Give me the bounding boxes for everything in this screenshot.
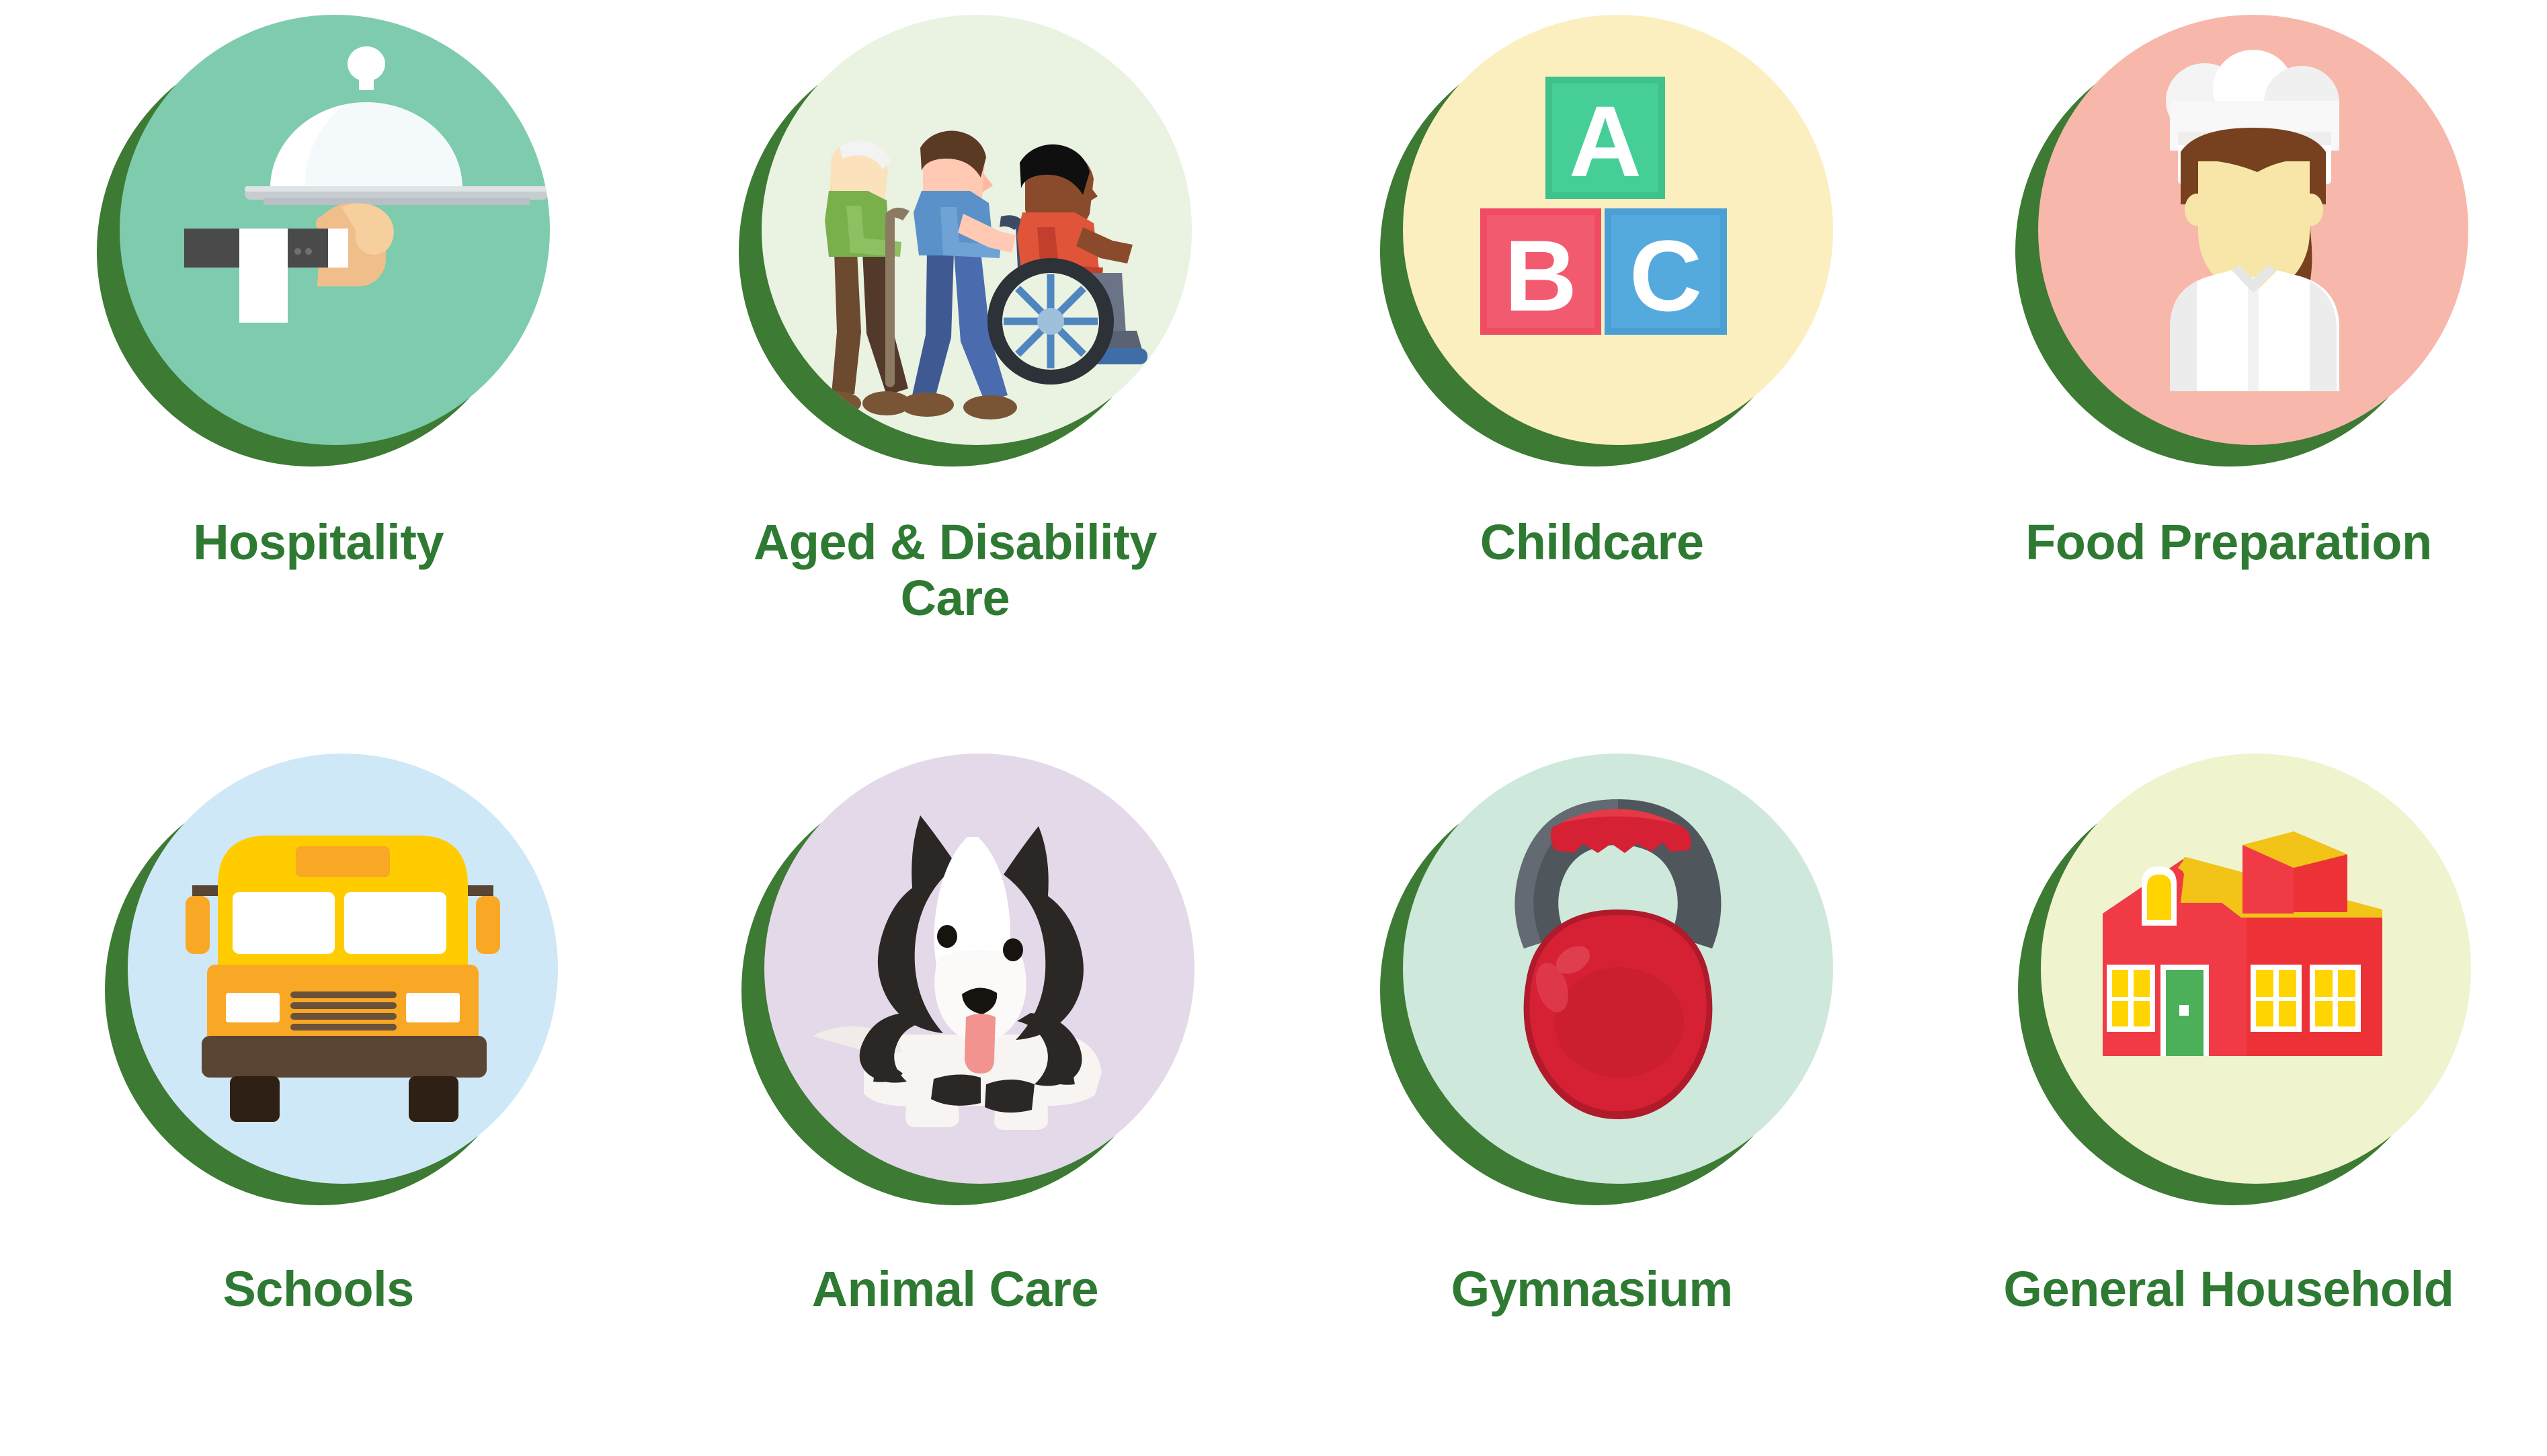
disc-food-preparation bbox=[2038, 15, 2468, 445]
badge-animal-care bbox=[723, 739, 1193, 1223]
carer-with-elderly-and-wheelchair-icon bbox=[762, 15, 1192, 445]
kettlebell-icon bbox=[1403, 754, 1833, 1184]
badge-general-household bbox=[1999, 739, 2470, 1223]
tile-label: Food Preparation bbox=[1973, 515, 2484, 571]
badge-hospitality bbox=[78, 0, 549, 484]
badge-childcare: A B C bbox=[1361, 0, 1832, 484]
tile-label: Animal Care bbox=[700, 1262, 1211, 1318]
house-icon bbox=[2041, 754, 2471, 1184]
tile-label: Childcare bbox=[1336, 515, 1847, 571]
category-tile-childcare[interactable]: A B C Childcare bbox=[1274, 0, 1910, 571]
category-tile-schools[interactable]: Schools bbox=[0, 728, 637, 1318]
category-tile-general-household[interactable]: General Household bbox=[1910, 728, 2547, 1318]
female-chef-icon bbox=[2038, 15, 2468, 445]
svg-text:C: C bbox=[1629, 219, 1702, 332]
abc-alphabet-blocks-icon: A B C bbox=[1403, 15, 1833, 445]
border-collie-dog-icon bbox=[764, 754, 1195, 1184]
disc-hospitality bbox=[120, 15, 550, 445]
badge-food-preparation bbox=[1996, 0, 2467, 484]
badge-gymnasium bbox=[1361, 739, 1832, 1223]
waiter-serving-tray-icon bbox=[120, 15, 550, 445]
badge-aged-and-disability-care bbox=[720, 0, 1190, 484]
category-tile-animal-care[interactable]: Animal Care bbox=[637, 728, 1273, 1318]
tile-label: Hospitality bbox=[63, 515, 574, 571]
category-tile-aged-and-disability-care[interactable]: Aged & Disability Care bbox=[637, 0, 1273, 626]
category-icon-grid: Hospitality bbox=[0, 0, 2547, 1456]
disc-schools bbox=[128, 754, 558, 1184]
category-tile-gymnasium[interactable]: Gymnasium bbox=[1274, 728, 1910, 1318]
disc-general-household bbox=[2041, 754, 2471, 1184]
category-tile-food-preparation[interactable]: Food Preparation bbox=[1910, 0, 2547, 571]
disc-gymnasium bbox=[1403, 754, 1833, 1184]
disc-childcare: A B C bbox=[1403, 15, 1833, 445]
disc-animal-care bbox=[764, 754, 1195, 1184]
tile-label: General Household bbox=[1973, 1262, 2484, 1318]
school-bus-icon bbox=[128, 754, 558, 1184]
badge-schools bbox=[86, 739, 557, 1223]
svg-text:A: A bbox=[1569, 85, 1642, 198]
tile-label: Gymnasium bbox=[1336, 1262, 1847, 1318]
disc-aged-and-disability-care bbox=[762, 15, 1192, 445]
category-tile-hospitality[interactable]: Hospitality bbox=[0, 0, 637, 571]
tile-label: Aged & Disability Care bbox=[700, 515, 1211, 626]
tile-label: Schools bbox=[63, 1262, 574, 1318]
svg-text:B: B bbox=[1504, 219, 1577, 332]
